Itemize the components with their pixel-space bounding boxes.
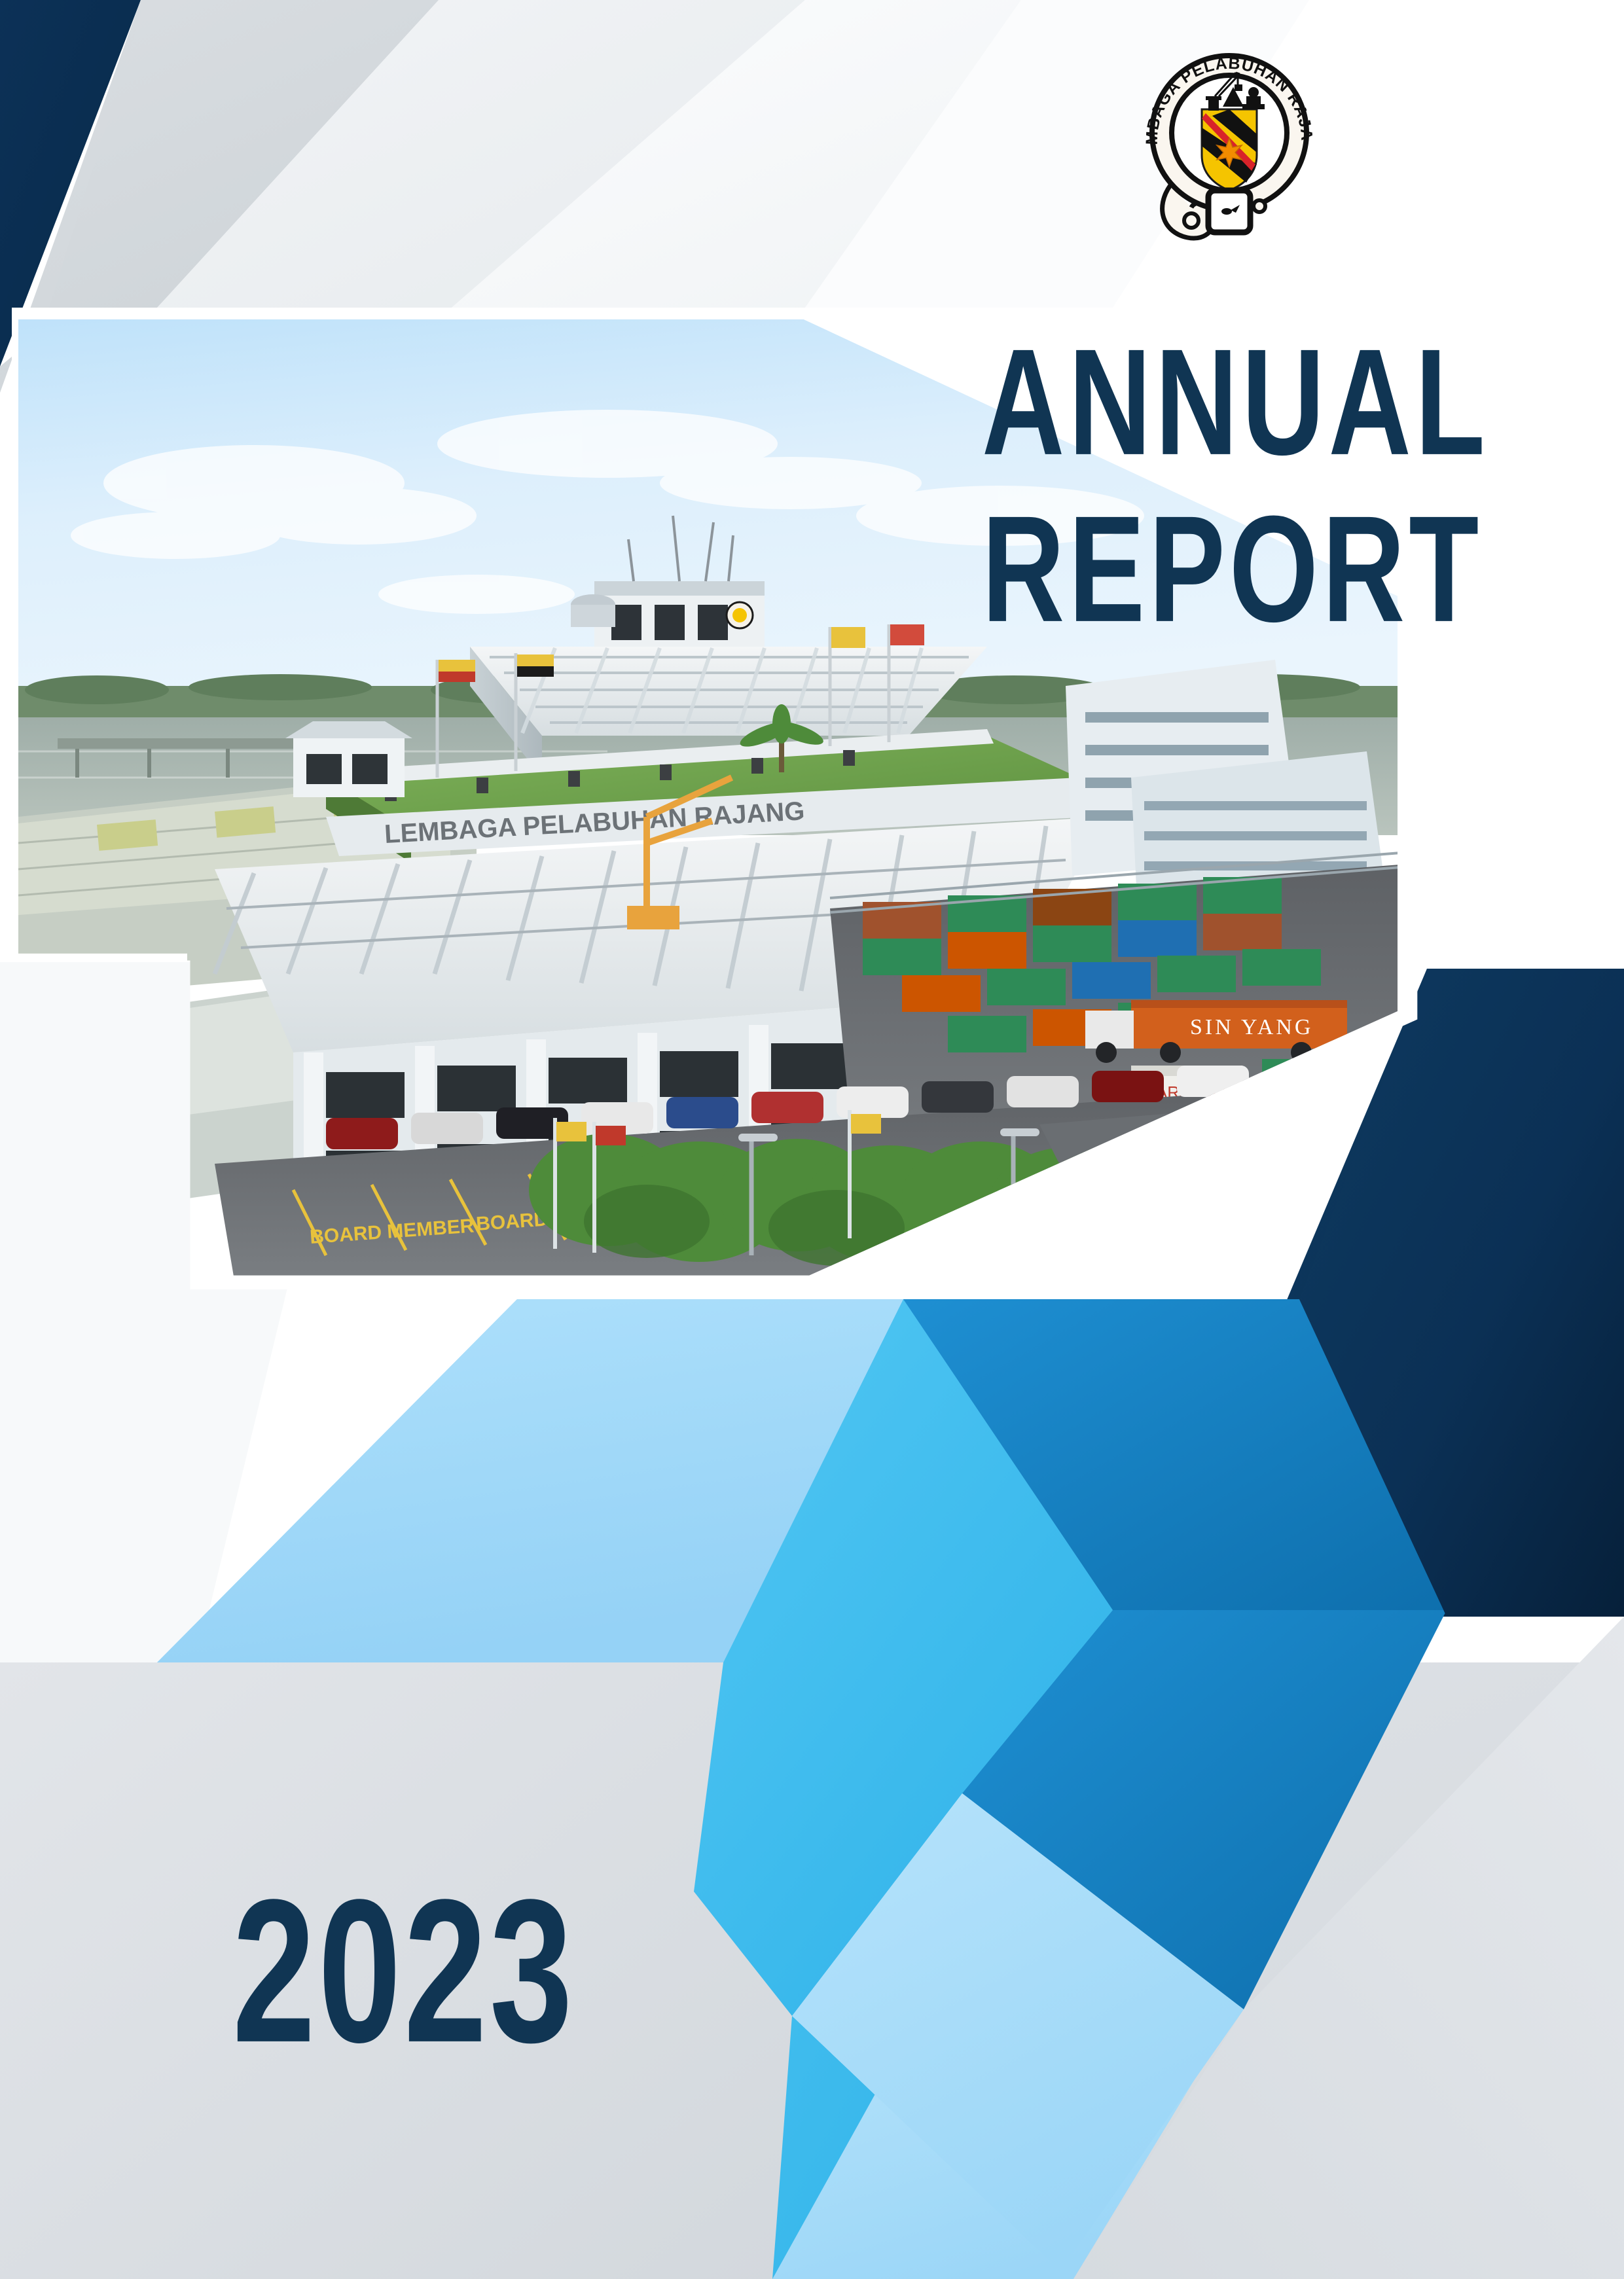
cover-year: 2023 (232, 1869, 575, 2073)
title-line-report: REPORT (982, 481, 1479, 660)
container-label: SIN YANG (1190, 1015, 1313, 1039)
cover-title: ANNUAL REPORT (982, 314, 1479, 616)
annual-report-cover: LEMBAGA PELABUHAN RAJANG (0, 0, 1624, 2279)
crest-right-hole (1254, 200, 1265, 212)
title-line-annual: ANNUAL (982, 314, 1479, 493)
anchor-ring-hole (1184, 213, 1199, 228)
crest-svg: LEMBAGA PELABUHAN RAJANG (1131, 36, 1327, 245)
organization-logo: LEMBAGA PELABUHAN RAJANG (1131, 36, 1327, 245)
